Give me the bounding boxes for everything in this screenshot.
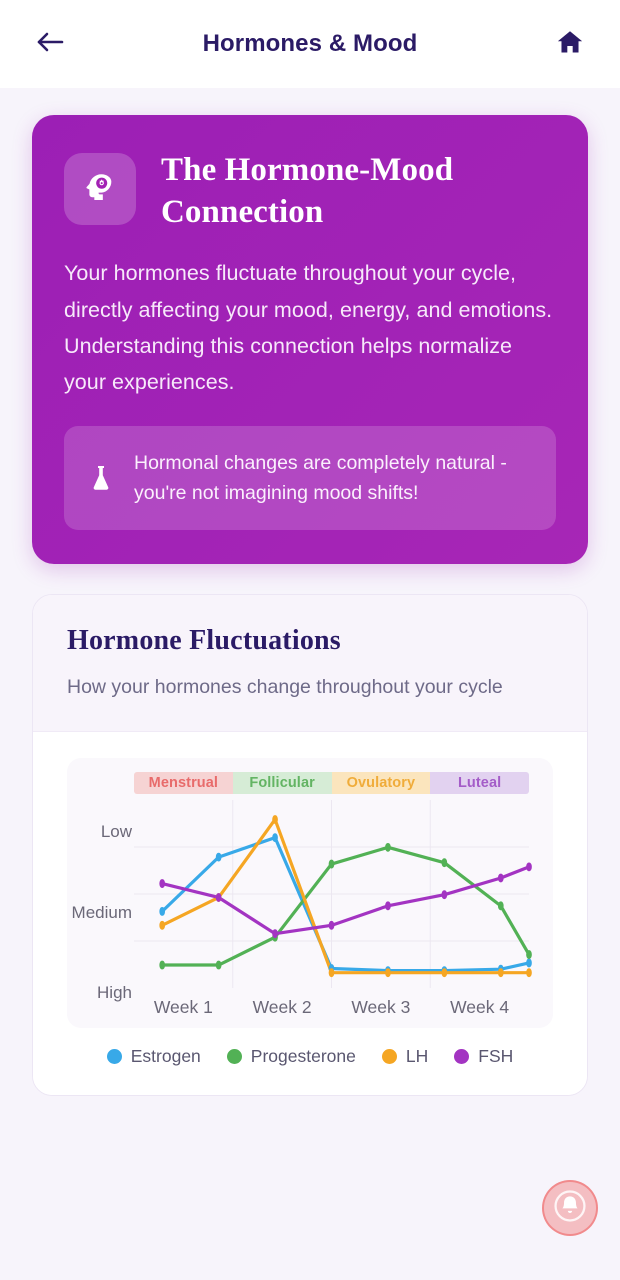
flask-icon bbox=[88, 464, 114, 492]
psychology-head-gear-icon bbox=[83, 170, 117, 209]
point-marker bbox=[528, 969, 531, 975]
data-point-fsh-4 bbox=[330, 922, 333, 928]
point-marker bbox=[161, 908, 164, 914]
arrow-left-icon bbox=[36, 30, 64, 59]
chart-legend: EstrogenProgesteroneLHFSH bbox=[67, 1046, 553, 1073]
point-marker bbox=[161, 922, 164, 928]
chart-card-body: MenstrualFollicularOvulatoryLuteal LowMe… bbox=[33, 732, 587, 1095]
cycle-phase-strip: MenstrualFollicularOvulatoryLuteal bbox=[134, 772, 529, 794]
chart-title: Hormone Fluctuations bbox=[67, 625, 553, 657]
data-point-progesterone-2 bbox=[217, 962, 220, 968]
home-button[interactable] bbox=[550, 24, 590, 64]
hormone-fluctuations-card: Hormone Fluctuations How your hormones c… bbox=[32, 594, 588, 1095]
hero-note-text: Hormonal changes are completely natural … bbox=[134, 448, 532, 508]
point-marker bbox=[387, 903, 390, 909]
point-marker bbox=[499, 903, 502, 909]
phase-label-follicular: Follicular bbox=[233, 772, 332, 794]
chart-panel: MenstrualFollicularOvulatoryLuteal LowMe… bbox=[67, 758, 553, 1028]
phase-label-ovulatory: Ovulatory bbox=[332, 772, 431, 794]
point-marker bbox=[499, 969, 502, 975]
legend-dot-progesterone bbox=[227, 1049, 242, 1064]
data-point-fsh-1 bbox=[161, 880, 164, 886]
hero-header: The Hormone-Mood Connection bbox=[64, 149, 556, 233]
data-point-lh-7 bbox=[499, 969, 502, 975]
data-point-progesterone-8 bbox=[528, 951, 531, 957]
data-point-estrogen-3 bbox=[274, 834, 277, 840]
back-button[interactable] bbox=[30, 24, 70, 64]
legend-dot-fsh bbox=[454, 1049, 469, 1064]
hero-description: Your hormones fluctuate throughout your … bbox=[64, 255, 556, 399]
chart-card-header: Hormone Fluctuations How your hormones c… bbox=[33, 595, 587, 731]
legend-label-fsh: FSH bbox=[478, 1046, 513, 1067]
data-point-progesterone-7 bbox=[499, 903, 502, 909]
chart-subtitle: How your hormones change throughout your… bbox=[67, 673, 553, 702]
legend-item-progesterone[interactable]: Progesterone bbox=[227, 1046, 356, 1067]
data-point-progesterone-1 bbox=[161, 962, 164, 968]
data-point-estrogen-2 bbox=[217, 854, 220, 860]
data-point-fsh-7 bbox=[499, 875, 502, 881]
data-point-progesterone-5 bbox=[387, 844, 390, 850]
point-marker bbox=[330, 969, 333, 975]
data-point-estrogen-1 bbox=[161, 908, 164, 914]
hero-icon-container bbox=[64, 153, 136, 225]
data-point-fsh-3 bbox=[274, 930, 277, 936]
phase-label-luteal: Luteal bbox=[430, 772, 529, 794]
point-marker bbox=[528, 960, 531, 966]
point-marker bbox=[161, 880, 164, 886]
app-bar: Hormones & Mood bbox=[0, 0, 620, 88]
notifications-fab[interactable] bbox=[542, 1180, 598, 1236]
data-point-fsh-2 bbox=[217, 894, 220, 900]
y-tick-low: Low bbox=[101, 822, 132, 842]
data-point-progesterone-6 bbox=[443, 859, 446, 865]
point-marker bbox=[443, 859, 446, 865]
legend-label-estrogen: Estrogen bbox=[131, 1046, 201, 1067]
phase-label-menstrual: Menstrual bbox=[134, 772, 233, 794]
point-marker bbox=[274, 834, 277, 840]
point-marker bbox=[528, 864, 531, 870]
y-tick-medium: Medium bbox=[72, 903, 132, 923]
point-marker bbox=[274, 816, 277, 822]
x-tick-week-3: Week 3 bbox=[332, 997, 431, 1018]
point-marker bbox=[443, 891, 446, 897]
legend-label-lh: LH bbox=[406, 1046, 428, 1067]
x-tick-week-4: Week 4 bbox=[430, 997, 529, 1018]
point-marker bbox=[387, 844, 390, 850]
legend-item-fsh[interactable]: FSH bbox=[454, 1046, 513, 1067]
point-marker bbox=[217, 962, 220, 968]
data-point-lh-3 bbox=[274, 816, 277, 822]
x-tick-week-2: Week 2 bbox=[233, 997, 332, 1018]
data-point-fsh-5 bbox=[387, 903, 390, 909]
point-marker bbox=[330, 861, 333, 867]
data-point-lh-4 bbox=[330, 969, 333, 975]
legend-label-progesterone: Progesterone bbox=[251, 1046, 356, 1067]
y-axis-labels: LowMediumHigh bbox=[77, 800, 132, 1018]
legend-dot-lh bbox=[382, 1049, 397, 1064]
point-marker bbox=[387, 969, 390, 975]
series-line-progesterone bbox=[162, 847, 529, 965]
point-marker bbox=[274, 930, 277, 936]
data-point-estrogen-8 bbox=[528, 960, 531, 966]
hero-title: The Hormone-Mood Connection bbox=[161, 149, 556, 233]
point-marker bbox=[499, 875, 502, 881]
data-point-lh-5 bbox=[387, 969, 390, 975]
data-point-lh-6 bbox=[443, 969, 446, 975]
legend-dot-estrogen bbox=[107, 1049, 122, 1064]
data-point-lh-1 bbox=[161, 922, 164, 928]
x-axis-labels: Week 1Week 2Week 3Week 4 bbox=[134, 997, 529, 1018]
data-point-lh-8 bbox=[528, 969, 531, 975]
data-point-fsh-6 bbox=[443, 891, 446, 897]
plot-wrapper: LowMediumHigh Week 1Week 2Week 3Week 4 bbox=[77, 800, 543, 1018]
legend-item-estrogen[interactable]: Estrogen bbox=[107, 1046, 201, 1067]
plot-area bbox=[134, 800, 529, 988]
point-marker bbox=[330, 922, 333, 928]
y-tick-high: High bbox=[97, 983, 132, 1003]
page-title: Hormones & Mood bbox=[70, 30, 550, 58]
point-marker bbox=[217, 894, 220, 900]
home-icon bbox=[555, 28, 585, 61]
point-marker bbox=[161, 962, 164, 968]
hormone-line-chart bbox=[134, 800, 529, 988]
hormone-mood-hero-card: The Hormone-Mood Connection Your hormone… bbox=[32, 115, 588, 564]
legend-item-lh[interactable]: LH bbox=[382, 1046, 428, 1067]
page-content: The Hormone-Mood Connection Your hormone… bbox=[0, 88, 620, 1096]
data-point-progesterone-4 bbox=[330, 861, 333, 867]
hero-note-box: Hormonal changes are completely natural … bbox=[64, 426, 556, 530]
bell-icon bbox=[553, 1189, 587, 1228]
point-marker bbox=[443, 969, 446, 975]
point-marker bbox=[217, 854, 220, 860]
data-point-fsh-8 bbox=[528, 864, 531, 870]
point-marker bbox=[528, 951, 531, 957]
x-tick-week-1: Week 1 bbox=[134, 997, 233, 1018]
